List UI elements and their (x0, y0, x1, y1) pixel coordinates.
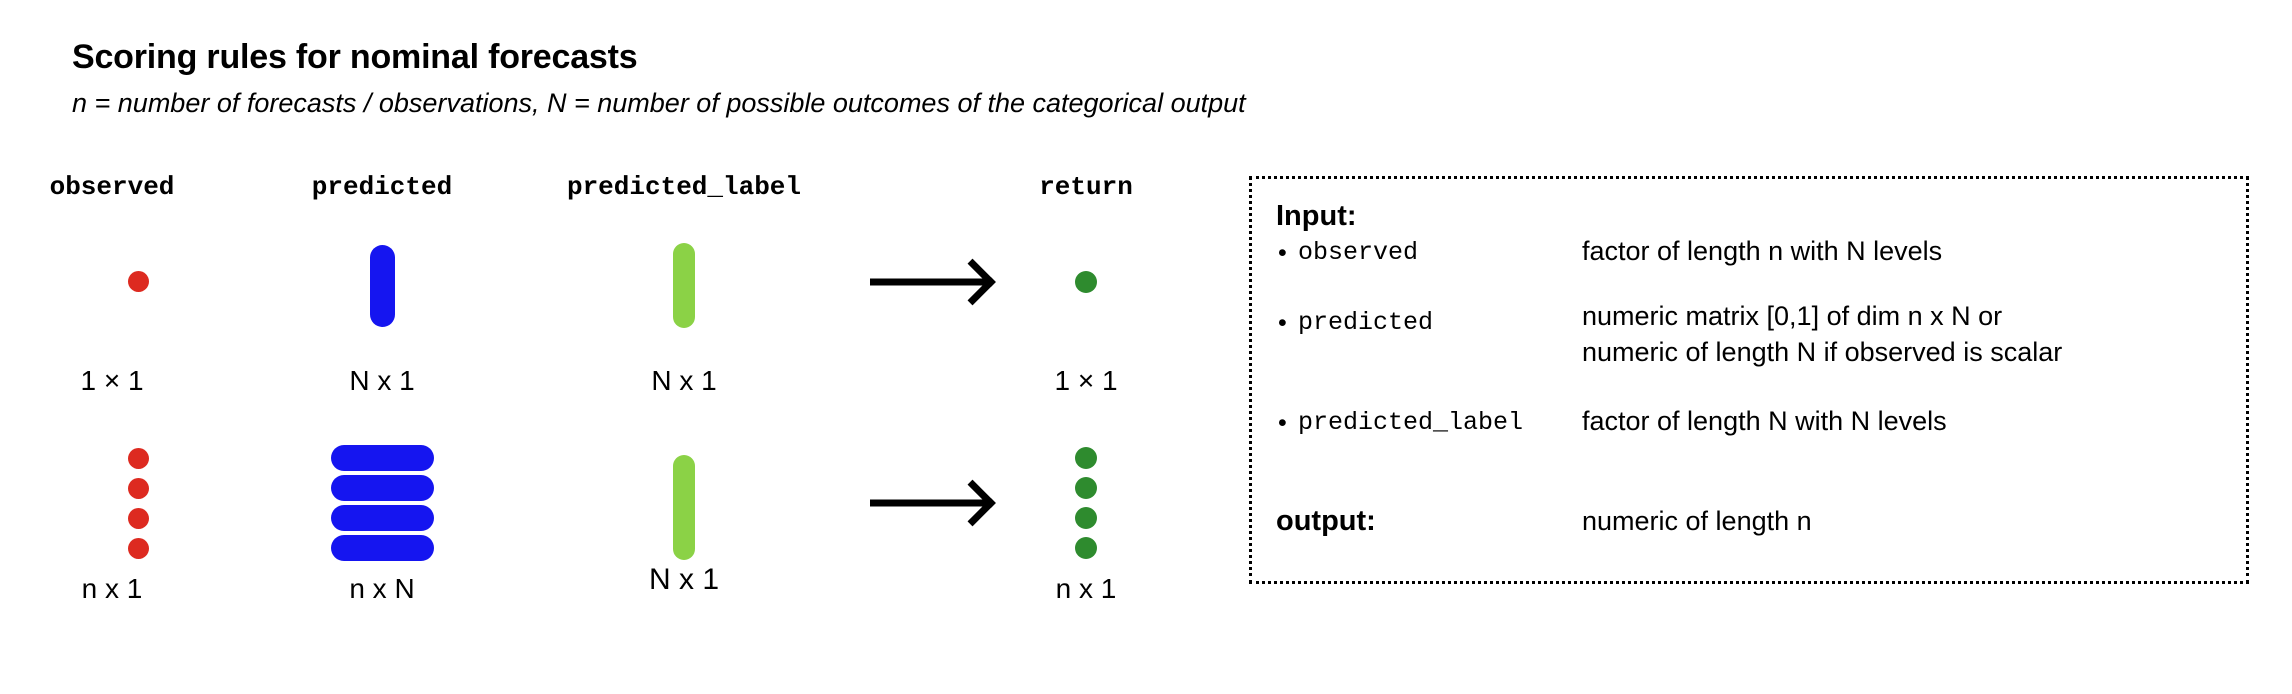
observed-dot-row2 (128, 478, 149, 499)
input-term-observed: observed (1298, 238, 1418, 267)
return-dot-row2 (1075, 447, 1097, 469)
output-heading: output: (1276, 505, 1376, 538)
dim-label-predicted-row2: n x N (349, 573, 414, 605)
dim-label-predicted-row1: N x 1 (349, 365, 414, 397)
bullet-icon: • (1278, 241, 1287, 266)
dim-label-return-row2: n x 1 (1056, 573, 1117, 605)
observed-dot-row1 (128, 271, 149, 292)
arrow-head (949, 259, 996, 306)
arrow-right-icon-row2 (870, 489, 990, 517)
arrow-head (949, 480, 996, 527)
input-desc-predicted-label: factor of length N with N levels (1582, 406, 1947, 437)
column-header-observed: observed (50, 172, 175, 202)
shape-diagram: observed predicted predicted_label retur… (0, 0, 1230, 694)
dim-label-return-row1: 1 × 1 (1054, 365, 1117, 397)
input-heading: Input: (1276, 200, 1357, 233)
bullet-icon: • (1278, 311, 1287, 336)
predicted-bar-row1 (370, 245, 395, 327)
observed-dot-row2 (128, 448, 149, 469)
observed-dot-row2 (128, 508, 149, 529)
input-desc-predicted-line1: numeric matrix [0,1] of dim n x N or (1582, 301, 2002, 332)
column-header-return: return (1039, 172, 1133, 202)
column-header-predicted-label: predicted_label (567, 172, 801, 202)
output-description: numeric of length n (1582, 506, 1812, 537)
input-desc-observed: factor of length n with N levels (1582, 236, 1942, 267)
predicted-row-bar-row2 (331, 505, 434, 531)
dim-label-observed-row1: 1 × 1 (80, 365, 143, 397)
arrow-right-icon-row1 (870, 268, 990, 296)
observed-dot-row2 (128, 538, 149, 559)
predicted-row-bar-row2 (331, 445, 434, 471)
return-dot-row1 (1075, 271, 1097, 293)
dim-label-predicted-label-row2: N x 1 (649, 563, 719, 597)
bullet-icon: • (1278, 411, 1287, 436)
return-dot-row2 (1075, 507, 1097, 529)
return-dot-row2 (1075, 477, 1097, 499)
return-dot-row2 (1075, 537, 1097, 559)
dim-label-observed-row2: n x 1 (82, 573, 143, 605)
dim-label-predicted-label-row1: N x 1 (651, 365, 716, 397)
input-desc-predicted-line2: numeric of length N if observed is scala… (1582, 337, 2062, 368)
predicted-row-bar-row2 (331, 475, 434, 501)
io-legend-box: Input: • observed factor of length n wit… (1249, 176, 2249, 584)
predicted-label-bar-row1 (673, 243, 695, 328)
figure-root: Scoring rules for nominal forecasts n = … (0, 0, 2292, 694)
input-term-predicted: predicted (1298, 308, 1433, 337)
predicted-label-bar-row2 (673, 455, 695, 560)
column-header-predicted: predicted (312, 172, 452, 202)
input-term-predicted-label: predicted_label (1298, 408, 1523, 437)
predicted-row-bar-row2 (331, 535, 434, 561)
